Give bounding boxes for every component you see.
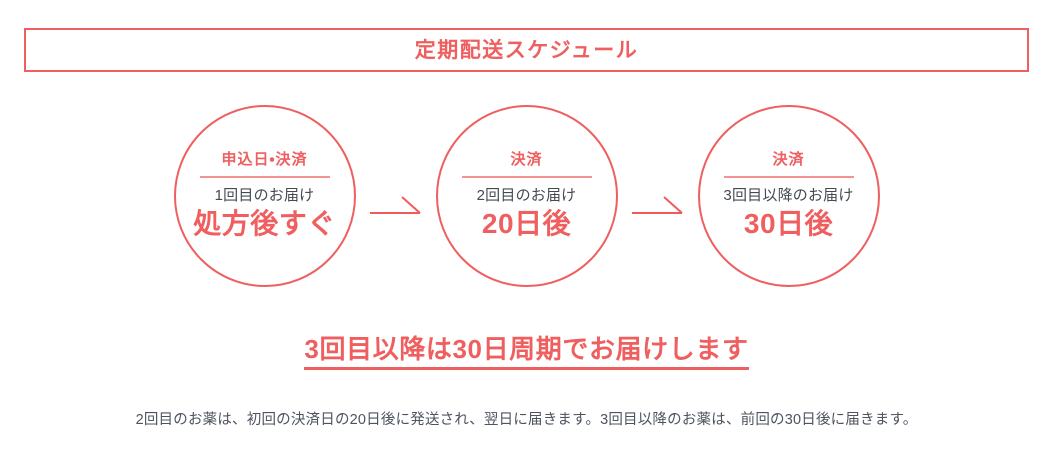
footnote-text: 2回目のお薬は、初回の決済日の20日後に発送され、翌日に届きます。3回目以降のお… <box>0 410 1053 430</box>
step-1-divider <box>200 176 330 178</box>
step-2-tag: 決済 <box>510 152 542 167</box>
step-3-divider <box>724 176 854 178</box>
step-3-label: 3回目以降のお届け <box>723 188 853 205</box>
schedule-step-1: 申込日・決済 1回目のお届け 処方後すぐ <box>174 105 356 287</box>
emphasis-text: 3回目以降は30日周期でお届けします <box>304 334 748 370</box>
schedule-step-3: 決済 3回目以降のお届け 30日後 <box>698 105 880 287</box>
arrow-right-icon-2 <box>630 189 686 223</box>
page-title: 定期配送スケジュール <box>415 40 639 61</box>
step-2-value: 20日後 <box>482 208 571 240</box>
schedule-step-2: 決済 2回目のお届け 20日後 <box>436 105 618 287</box>
step-1-tag: 申込日・決済 <box>221 152 307 167</box>
step-3-tag: 決済 <box>772 152 804 167</box>
step-2-label: 2回目のお届け <box>477 188 577 205</box>
schedule-header-box: 定期配送スケジュール <box>24 28 1029 72</box>
step-1-value: 処方後すぐ <box>193 208 336 240</box>
step-1-label: 1回目のお届け <box>215 188 315 205</box>
schedule-steps: 申込日・決済 1回目のお届け 処方後すぐ 決済 2回目のお届け 20日後 決済 … <box>0 103 1053 289</box>
arrow-right-icon-1 <box>368 189 424 223</box>
step-2-divider <box>462 176 592 178</box>
emphasis-row: 3回目以降は30日周期でお届けします <box>0 334 1053 370</box>
step-3-value: 30日後 <box>744 208 833 240</box>
